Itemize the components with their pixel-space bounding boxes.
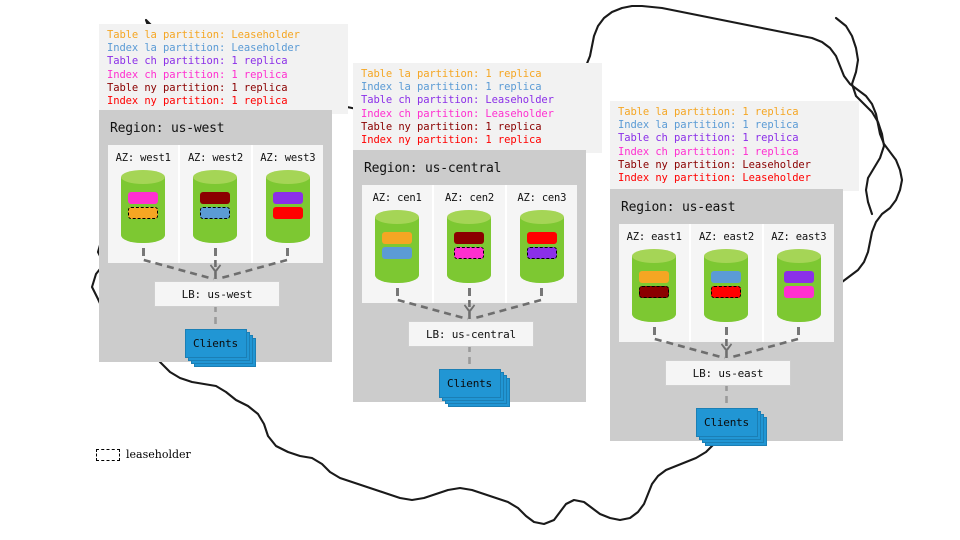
- legend-line-us-central-4: Table ny partition: 1 replica: [361, 121, 594, 134]
- legend-line-us-west-1: Index la partition: Leaseholder: [107, 42, 340, 55]
- clients-stack-us-west[interactable]: Clients: [185, 329, 257, 367]
- legend-line-us-east-3: Index ch partition: 1 replica: [618, 146, 851, 159]
- az-to-lb-connectors-us-central: [353, 150, 586, 402]
- legend-line-us-west-0: Table la partition: Leaseholder: [107, 29, 340, 42]
- legend-box-us-east: Table la partition: 1 replicaIndex la pa…: [610, 101, 859, 191]
- leaseholder-swatch-icon: [96, 449, 120, 461]
- legend-line-us-east-4: Table ny partition: Leaseholder: [618, 159, 851, 172]
- legend-line-us-west-2: Table ch partition: 1 replica: [107, 55, 340, 68]
- region-panel-us-west: Region: us-westAZ: west1AZ: west2AZ: wes…: [99, 110, 332, 362]
- legend-line-us-central-1: Index la partition: 1 replica: [361, 81, 594, 94]
- legend-line-us-central-3: Index ch partition: Leaseholder: [361, 108, 594, 121]
- az-to-lb-connectors-us-west: [99, 110, 332, 362]
- legend-line-us-central-5: Index ny partition: 1 replica: [361, 134, 594, 147]
- region-panel-us-east: Region: us-eastAZ: east1AZ: east2AZ: eas…: [610, 189, 843, 441]
- clients-stack-us-central[interactable]: Clients: [439, 369, 511, 407]
- leaseholder-key-label: leaseholder: [126, 448, 191, 461]
- legend-line-us-central-2: Table ch partition: Leaseholder: [361, 94, 594, 107]
- load-balancer-us-west[interactable]: LB: us-west: [154, 281, 280, 307]
- legend-line-us-east-1: Index la partition: 1 replica: [618, 119, 851, 132]
- legend-line-us-central-0: Table la partition: 1 replica: [361, 68, 594, 81]
- legend-line-us-west-5: Index ny partition: 1 replica: [107, 95, 340, 108]
- legend-line-us-west-3: Index ch partition: 1 replica: [107, 69, 340, 82]
- legend-box-us-central: Table la partition: 1 replicaIndex la pa…: [353, 63, 602, 153]
- clients-box-us-east[interactable]: Clients: [696, 408, 758, 437]
- region-panel-us-central: Region: us-centralAZ: cen1AZ: cen2AZ: ce…: [353, 150, 586, 402]
- clients-stack-us-east[interactable]: Clients: [696, 408, 768, 446]
- legend-line-us-east-2: Table ch partition: 1 replica: [618, 132, 851, 145]
- az-to-lb-connectors-us-east: [610, 189, 843, 441]
- clients-box-us-west[interactable]: Clients: [185, 329, 247, 358]
- load-balancer-us-central[interactable]: LB: us-central: [408, 321, 534, 347]
- clients-box-us-central[interactable]: Clients: [439, 369, 501, 398]
- legend-line-us-east-0: Table la partition: 1 replica: [618, 106, 851, 119]
- leaseholder-key: leaseholder: [96, 448, 191, 461]
- legend-line-us-west-4: Table ny partition: 1 replica: [107, 82, 340, 95]
- legend-line-us-east-5: Index ny partition: Leaseholder: [618, 172, 851, 185]
- load-balancer-us-east[interactable]: LB: us-east: [665, 360, 791, 386]
- legend-box-us-west: Table la partition: LeaseholderIndex la …: [99, 24, 348, 114]
